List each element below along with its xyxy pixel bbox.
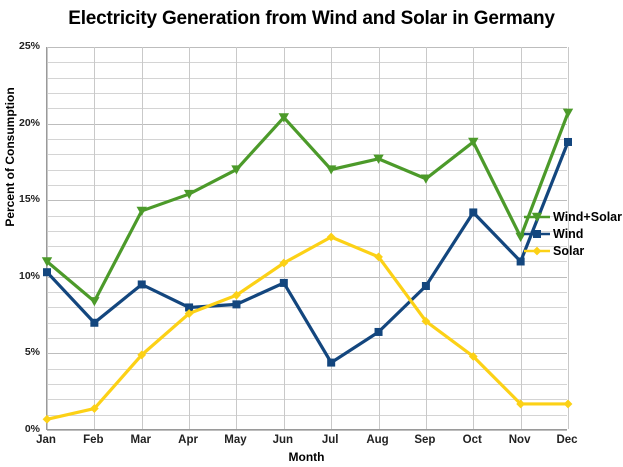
series-line: [47, 237, 568, 419]
x-axis-title: Month: [46, 450, 567, 464]
data-point: [327, 359, 335, 367]
data-point: [43, 268, 51, 276]
plot-area: [46, 47, 567, 430]
data-point: [564, 138, 572, 146]
series-layer: [47, 47, 568, 430]
y-axis-title: Percent of Consumption: [3, 67, 17, 247]
legend-item[interactable]: Wind+Solar: [524, 208, 622, 225]
legend-label: Wind: [553, 227, 583, 241]
legend-marker-icon: [524, 227, 550, 241]
data-point: [90, 319, 98, 327]
y-tick-label: 10%: [0, 270, 40, 282]
data-point: [232, 300, 240, 308]
legend-item[interactable]: Wind: [524, 225, 622, 242]
data-point: [564, 400, 573, 409]
legend-item[interactable]: Solar: [524, 242, 622, 259]
legend-label: Solar: [553, 244, 584, 258]
data-point: [422, 282, 430, 290]
y-tick-label: 15%: [0, 193, 40, 205]
series-wind: [43, 138, 572, 367]
legend-marker-icon: [524, 244, 550, 258]
data-point: [280, 279, 288, 287]
legend-marker-icon: [524, 210, 550, 224]
chart-legend: Wind+SolarWindSolar: [524, 208, 622, 259]
series-wind-solar: [42, 109, 573, 307]
data-point: [89, 297, 99, 306]
data-point: [469, 208, 477, 216]
data-point: [563, 109, 573, 118]
data-point: [138, 280, 146, 288]
x-tick-label: Dec: [537, 434, 597, 446]
y-tick-label: 5%: [0, 346, 40, 358]
series-solar: [43, 233, 573, 424]
legend-label: Wind+Solar: [553, 210, 622, 224]
gridline-major: [47, 430, 567, 431]
series-line: [47, 113, 568, 301]
chart-title: Electricity Generation from Wind and Sol…: [0, 8, 623, 30]
y-tick-label: 20%: [0, 117, 40, 129]
data-point: [375, 328, 383, 336]
chart-container: Electricity Generation from Wind and Sol…: [0, 0, 623, 467]
y-tick-label: 25%: [0, 40, 40, 52]
data-point: [421, 175, 431, 184]
data-point: [43, 415, 52, 424]
